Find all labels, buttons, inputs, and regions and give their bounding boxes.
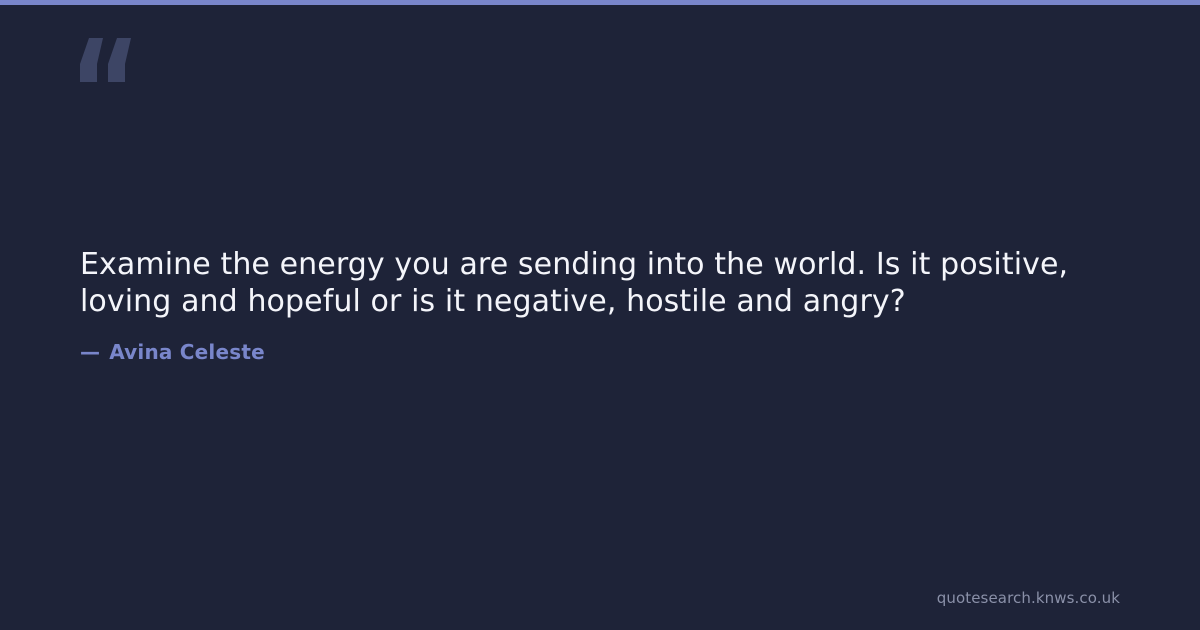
quote-text: Examine the energy you are sending into …	[80, 246, 1140, 320]
attribution-dash: —	[80, 340, 100, 364]
quotation-mark-icon	[80, 38, 132, 82]
quote-card: Examine the energy you are sending into …	[0, 0, 1200, 630]
quote-attribution: — Avina Celeste	[80, 340, 265, 364]
quote-block: Examine the energy you are sending into …	[80, 246, 1140, 320]
author-name: Avina Celeste	[109, 340, 265, 364]
source-url: quotesearch.knws.co.uk	[937, 589, 1120, 607]
top-accent-bar	[0, 0, 1200, 5]
